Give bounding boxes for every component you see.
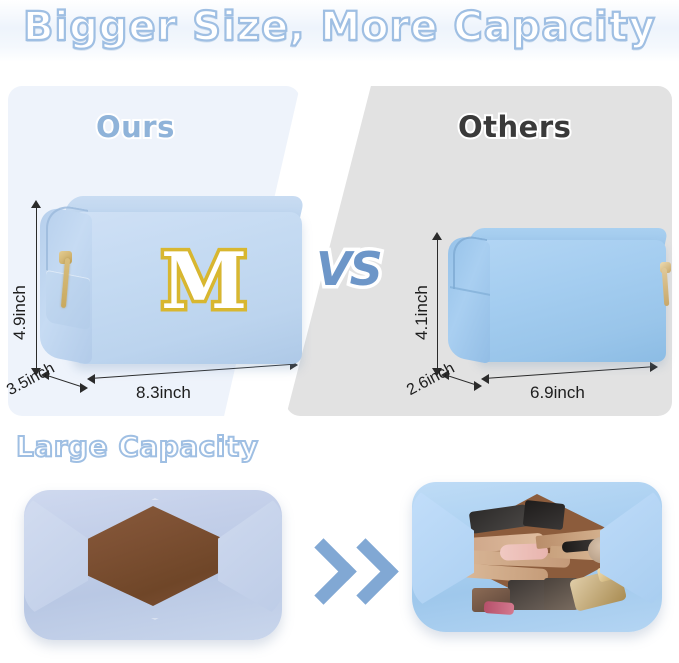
product-infographic: Bigger Size, More Capacity Ours Others M… — [0, 0, 679, 663]
section-title-large-capacity: Large Capacity — [16, 430, 259, 463]
bag-ours-image: M — [40, 196, 308, 368]
dim-ours-depth-arrow-right — [80, 383, 88, 393]
dim-others-width-arrow-left — [481, 374, 489, 384]
dim-others-height-line — [437, 236, 438, 374]
dim-others-height-text: 4.1inch — [412, 285, 432, 340]
bag-others-zipper — [453, 233, 487, 295]
label-ours: Ours — [96, 110, 175, 144]
bag-others-front-face — [476, 240, 666, 362]
dim-ours-width-text: 8.3inch — [136, 383, 191, 403]
dim-ours-height-text: 4.9inch — [10, 285, 30, 340]
versus-badge: VS — [316, 242, 381, 296]
cosmetic-item — [523, 500, 565, 530]
dim-others-height-arrow-top — [432, 232, 442, 240]
chevron-right-icon-2 — [332, 538, 398, 604]
title-band: Bigger Size, More Capacity — [0, 0, 679, 62]
bag-others-image — [448, 228, 672, 366]
dim-others-width-text: 6.9inch — [530, 383, 585, 403]
open-bag-full — [412, 474, 662, 656]
label-others: Others — [458, 110, 571, 144]
cosmetic-item — [484, 601, 515, 615]
dim-ours-height-line — [36, 204, 37, 374]
open-bag-empty — [24, 482, 282, 654]
letter-patch-m: M — [162, 238, 246, 326]
dim-ours-width-arrow-left — [87, 374, 95, 384]
page-title: Bigger Size, More Capacity — [0, 4, 679, 50]
